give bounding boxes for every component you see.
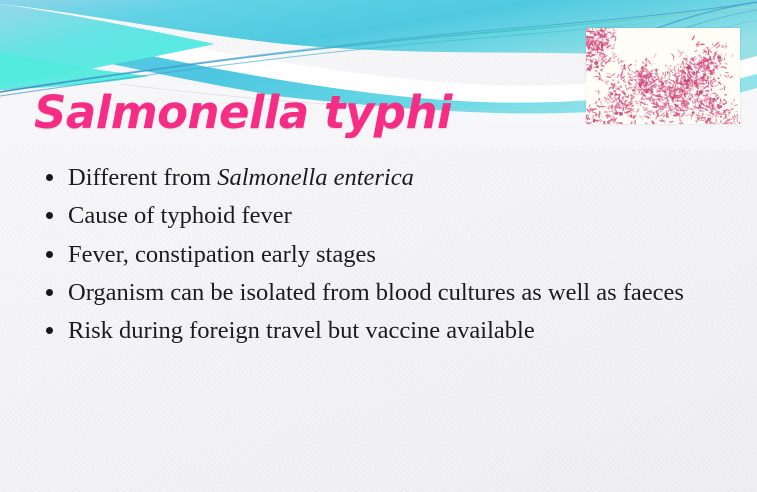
list-item-text: Risk during foreign travel but vaccine a… [68,317,535,344]
list-item: Different from Salmonella enterica [40,162,712,193]
list-item-text-plain: Different from [68,164,217,191]
slide-title: Salmonella typhi [34,89,452,136]
list-item-text: Fever, constipation early stages [68,241,376,268]
list-item-text-italic: Salmonella enterica [217,164,414,191]
bullet-dot-icon [46,289,53,296]
bullet-dot-icon [46,327,53,334]
list-item: Risk during foreign travel but vaccine a… [40,315,712,346]
list-item: Fever, constipation early stages [40,239,712,270]
gram-stain-micrograph [586,28,740,124]
bullet-list: Different from Salmonella enterica Cause… [40,162,712,354]
bullet-dot-icon [46,174,53,181]
list-item-text: Cause of typhoid fever [68,202,292,229]
bullet-dot-icon [46,251,53,258]
presentation-slide: Salmonella typhi Different from Salmonel… [0,0,757,492]
list-item-text: Organism can be isolated from blood cult… [68,279,684,306]
list-item-text: Different from Salmonella enterica [68,164,414,191]
list-item: Organism can be isolated from blood cult… [40,277,712,308]
micrograph-graphic [586,28,740,124]
bullet-dot-icon [46,212,53,219]
list-item: Cause of typhoid fever [40,200,712,231]
